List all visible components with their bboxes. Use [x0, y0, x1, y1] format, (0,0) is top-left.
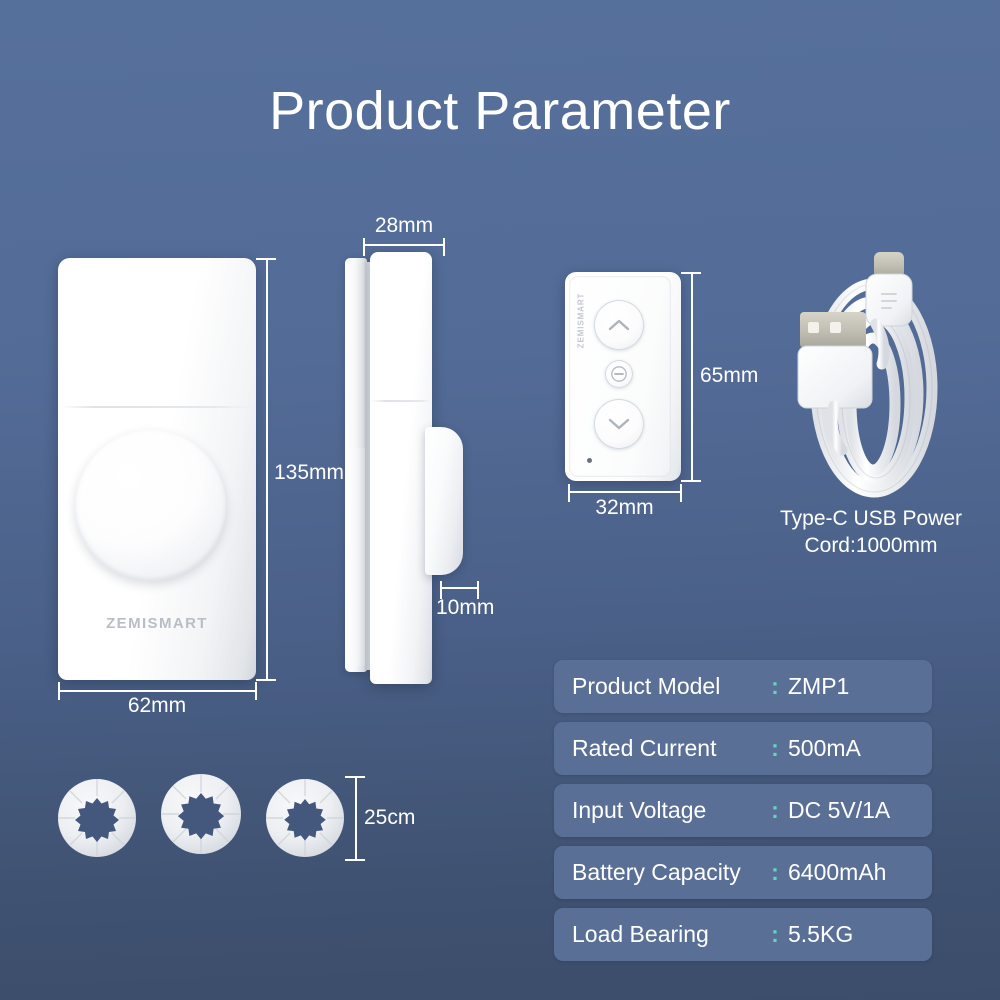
- device-side-seam: [371, 400, 431, 402]
- dim-label-size-25: 25cm: [364, 806, 415, 830]
- dim-cap-top-135: [256, 258, 276, 260]
- remote-down-button[interactable]: [594, 399, 644, 449]
- minus-circle-icon: [610, 365, 628, 383]
- dim-line-depth-10: [440, 587, 478, 589]
- device-knob: [75, 430, 226, 581]
- spec-label: Battery Capacity: [572, 859, 762, 886]
- dim-label-width-32: 32mm: [552, 496, 697, 520]
- cable-caption-line1: Type-C USB Power: [780, 507, 962, 530]
- spec-value: DC 5V/1A: [788, 797, 924, 824]
- dim-label-width-62: 62mm: [0, 694, 314, 718]
- bead-chain-adapter-2: [159, 772, 243, 856]
- dim-line-width-32: [568, 491, 681, 493]
- spec-colon: :: [762, 735, 788, 762]
- spec-row-input-voltage: Input Voltage : DC 5V/1A: [554, 784, 932, 837]
- bead-chain-adapter-3: [263, 776, 347, 860]
- spec-value: 5.5KG: [788, 921, 924, 948]
- dim-line-size-25: [355, 776, 357, 860]
- spec-row-load-bearing: Load Bearing : 5.5KG: [554, 908, 932, 961]
- dim-cap-bottom-25: [345, 859, 365, 861]
- spec-colon: :: [762, 921, 788, 948]
- dim-cap-right-28: [443, 238, 445, 256]
- spec-row-product-model: Product Model : ZMP1: [554, 660, 932, 713]
- spec-label: Product Model: [572, 673, 762, 700]
- page-title: Product Parameter: [0, 80, 1000, 142]
- spec-colon: :: [762, 797, 788, 824]
- spec-row-rated-current: Rated Current : 500mA: [554, 722, 932, 775]
- dim-line-width-62: [58, 690, 256, 692]
- dim-cap-bottom-65: [681, 480, 701, 482]
- spec-row-battery-capacity: Battery Capacity : 6400mAh: [554, 846, 932, 899]
- usb-a-connector: [798, 312, 872, 450]
- dim-cap-bottom-135: [256, 679, 276, 681]
- cable-caption: Type-C USB Power Cord:1000mm: [760, 505, 982, 559]
- bead-chain-adapter-1: [55, 776, 139, 860]
- spec-label: Load Bearing: [572, 921, 762, 948]
- device-seam-line: [60, 406, 254, 408]
- brand-logo-remote: ZEMISMART: [577, 292, 586, 350]
- cable-caption-line2: Cord:1000mm: [804, 534, 937, 557]
- dim-line-height-135: [266, 258, 268, 680]
- spec-table: Product Model : ZMP1 Rated Current : 500…: [554, 660, 932, 961]
- usb-cable-illustration: [778, 248, 964, 504]
- led-indicator-icon: [587, 458, 592, 463]
- dim-label-height-135: 135mm: [274, 461, 344, 485]
- dim-label-height-65: 65mm: [700, 364, 758, 388]
- spec-colon: :: [762, 673, 788, 700]
- spec-value: 6400mAh: [788, 859, 924, 886]
- accessories-image: [55, 772, 355, 868]
- dim-cap-top-25: [345, 776, 365, 778]
- dim-label-depth-10: 10mm: [436, 596, 494, 620]
- brand-logo-front: ZEMISMART: [58, 615, 256, 632]
- spec-value: 500mA: [788, 735, 924, 762]
- spec-colon: :: [762, 859, 788, 886]
- spec-value: ZMP1: [788, 673, 924, 700]
- device-rail-notch: [347, 448, 367, 666]
- dim-cap-left-28: [363, 238, 365, 256]
- remote-stop-button[interactable]: [605, 360, 633, 388]
- device-side-body: [370, 252, 432, 684]
- dim-line-height-65: [691, 272, 693, 481]
- dim-label-width-28: 28mm: [324, 214, 484, 238]
- front-view-product-image: ZEMISMART: [58, 258, 256, 680]
- usb-cable-image: [778, 248, 964, 504]
- dim-line-width-28: [363, 244, 444, 246]
- chevron-down-icon: [608, 417, 630, 431]
- spec-label: Rated Current: [572, 735, 762, 762]
- remote-control-image: ZEMISMART: [565, 272, 681, 481]
- device-knob-profile: [425, 427, 463, 575]
- dim-cap-top-65: [681, 272, 701, 274]
- remote-up-button[interactable]: [594, 300, 644, 350]
- chevron-up-icon: [608, 318, 630, 332]
- spec-label: Input Voltage: [572, 797, 762, 824]
